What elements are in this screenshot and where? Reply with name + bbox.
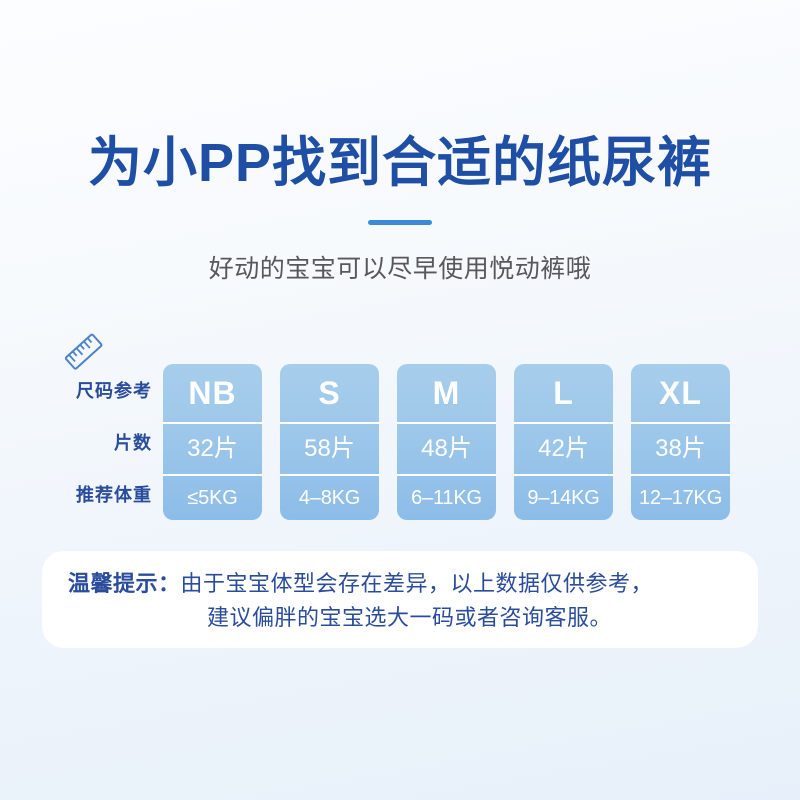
tip-box: 温馨提示：由于宝宝体型会存在差异，以上数据仅供参考， 建议偏胖的宝宝选大一码或者… bbox=[42, 551, 758, 648]
size-table-columns: NB 32片 ≤5KG S 58片 4–8KG M 48片 6–11KG L 4… bbox=[163, 364, 738, 520]
cell-size: NB bbox=[163, 364, 262, 424]
cell-size: L bbox=[514, 364, 613, 424]
row-label-size: 尺码参考 bbox=[38, 364, 152, 416]
size-table-row-labels: 尺码参考 片数 推荐体重 bbox=[38, 364, 152, 520]
size-column-xl[interactable]: XL 38片 12–17KG bbox=[631, 364, 730, 520]
size-column-nb[interactable]: NB 32片 ≤5KG bbox=[163, 364, 262, 520]
size-column-s[interactable]: S 58片 4–8KG bbox=[280, 364, 379, 520]
cell-count: 42片 bbox=[514, 424, 613, 476]
tip-label: 温馨提示： bbox=[68, 571, 181, 596]
cell-count: 32片 bbox=[163, 424, 262, 476]
cell-count: 38片 bbox=[631, 424, 730, 476]
cell-count: 48片 bbox=[397, 424, 496, 476]
cell-weight: 9–14KG bbox=[514, 476, 613, 520]
cell-count: 58片 bbox=[280, 424, 379, 476]
size-column-l[interactable]: L 42片 9–14KG bbox=[514, 364, 613, 520]
cell-size: XL bbox=[631, 364, 730, 424]
tip-text-line1: 由于宝宝体型会存在差异，以上数据仅供参考， bbox=[181, 571, 654, 596]
page-title: 为小PP找到合适的纸尿裤 bbox=[0, 132, 800, 194]
cell-weight: 6–11KG bbox=[397, 476, 496, 520]
cell-weight: 12–17KG bbox=[631, 476, 730, 520]
tip-text-line2: 建议偏胖的宝宝选大一码或者咨询客服。 bbox=[62, 601, 738, 635]
size-table: 尺码参考 片数 推荐体重 NB 32片 ≤5KG S 58片 4–8KG M 4… bbox=[0, 364, 800, 520]
cell-size: M bbox=[397, 364, 496, 424]
title-divider bbox=[368, 220, 432, 225]
size-guide-page: 为小PP找到合适的纸尿裤 好动的宝宝可以尽早使用悦动裤哦 尺码参考 片数 推荐体… bbox=[0, 0, 800, 800]
cell-weight: 4–8KG bbox=[280, 476, 379, 520]
row-label-count: 片数 bbox=[38, 416, 152, 468]
cell-weight: ≤5KG bbox=[163, 476, 262, 520]
cell-size: S bbox=[280, 364, 379, 424]
row-label-weight: 推荐体重 bbox=[38, 468, 152, 520]
size-column-m[interactable]: M 48片 6–11KG bbox=[397, 364, 496, 520]
tip-line-first: 温馨提示：由于宝宝体型会存在差异，以上数据仅供参考， bbox=[62, 567, 738, 601]
page-subtitle: 好动的宝宝可以尽早使用悦动裤哦 bbox=[0, 249, 800, 285]
header: 为小PP找到合适的纸尿裤 好动的宝宝可以尽早使用悦动裤哦 bbox=[0, 132, 800, 285]
